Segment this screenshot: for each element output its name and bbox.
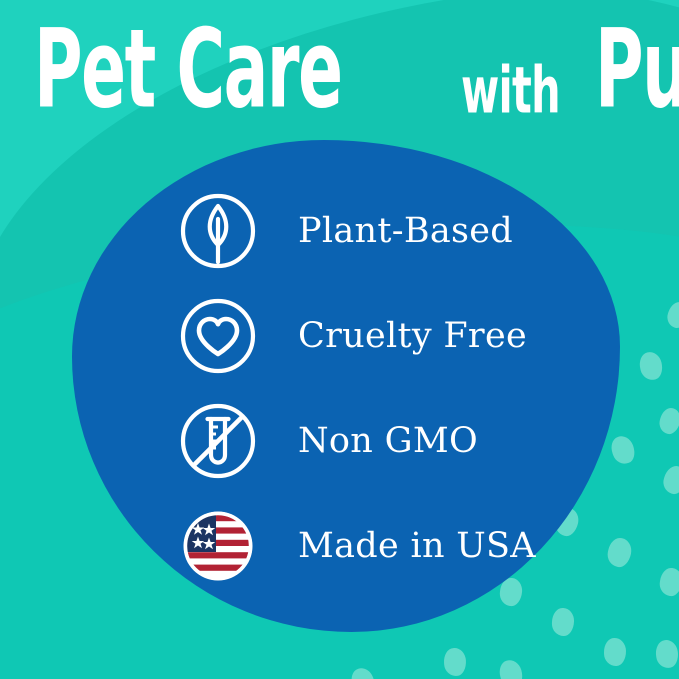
promo-graphic: Pet Care with Purpose ® Plant-Based <box>0 0 679 679</box>
feature-label-plant-based: Plant-Based <box>298 211 513 251</box>
heart-circle-icon <box>176 294 260 378</box>
no-test-tube-icon <box>176 399 260 483</box>
usa-flag-circle-icon <box>176 504 260 588</box>
headline-part-three: Purpose <box>595 15 679 124</box>
feature-label-non-gmo: Non GMO <box>298 421 478 461</box>
leaf-circle-icon <box>176 189 260 273</box>
feature-row-non-gmo: Non GMO <box>176 388 596 493</box>
headline-part-two: with <box>461 60 560 124</box>
page-title: Pet Care with Purpose ® <box>34 16 674 124</box>
feature-label-cruelty-free: Cruelty Free <box>298 316 527 356</box>
feature-row-plant-based: Plant-Based <box>176 178 596 283</box>
headline-part-one: Pet Care <box>34 15 342 124</box>
feature-row-cruelty-free: Cruelty Free <box>176 283 596 388</box>
feature-label-made-in-usa: Made in USA <box>298 526 536 566</box>
feature-list: Plant-Based Cruelty Free <box>176 178 596 598</box>
feature-row-made-in-usa: Made in USA <box>176 493 596 598</box>
